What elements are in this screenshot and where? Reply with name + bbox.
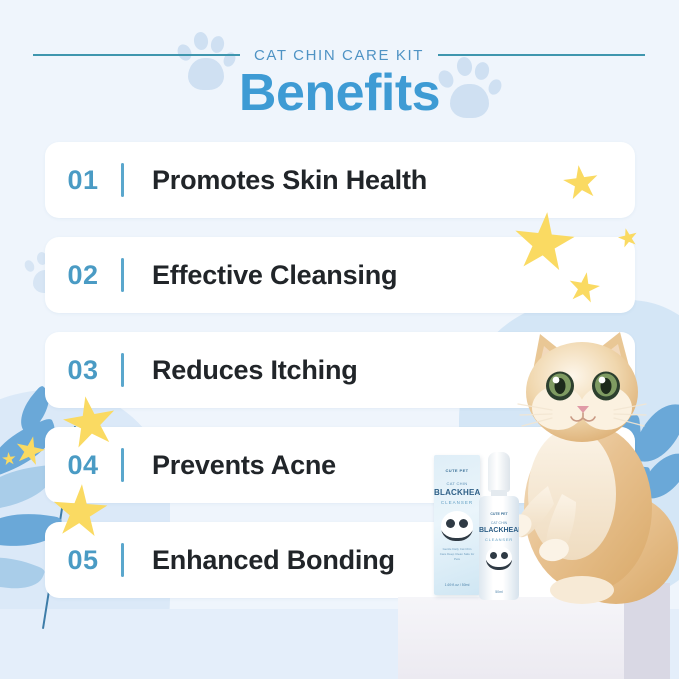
benefit-row-01: 01 Promotes Skin Health [45,142,635,218]
benefit-number: 02 [45,260,121,291]
bottle-line-2: BLACKHEAD [479,527,519,534]
box-brand: CUTE PET [434,468,480,473]
benefit-label: Enhanced Bonding [124,545,395,576]
star-icon [12,433,48,469]
benefit-number: 01 [45,165,121,196]
benefit-label: Promotes Skin Health [124,165,427,196]
bottle-body: CUTE PET CAT CHIN BLACKHEAD CLEANSER 50m… [479,496,519,600]
header-kicker: CAT CHIN CARE KIT [254,47,424,64]
bottle-pump-cap [488,452,510,492]
box-fine-print: Gentle Daily Cat Chin Care Deep Clean Sa… [439,547,475,562]
box-line-2: BLACKHEAD [434,488,480,497]
bottle-volume: 50ml [482,590,516,594]
box-volume: 1.69 fl.oz / 50ml [439,583,475,587]
bottle-brand: CUTE PET [479,512,519,516]
benefit-label: Reduces Itching [124,355,358,386]
cat-photo [496,318,679,610]
header-kicker-row: CAT CHIN CARE KIT [33,44,645,66]
leaf-shape [0,545,46,602]
product-box: CUTE PET CAT CHIN BLACKHEAD CLEANSER Gen… [434,455,480,595]
benefit-number: 04 [45,450,121,481]
bottle-cat-artwork [486,546,512,570]
box-line-1: CAT CHIN [434,481,480,486]
product-bottle: CUTE PET CAT CHIN BLACKHEAD CLEANSER 50m… [479,452,519,600]
bottle-line-1: CAT CHIN [479,521,519,525]
box-line-3: CLEANSER [434,500,480,505]
star-icon [1,451,16,466]
benefits-infographic: CAT CHIN CARE KIT Benefits 01 Promotes S… [0,0,679,679]
benefit-number: 05 [45,545,121,576]
benefit-label: Effective Cleansing [124,260,397,291]
box-cat-artwork [441,511,473,541]
page-title: Benefits [0,66,679,120]
benefit-number: 03 [45,355,121,386]
divider-rule-right [438,54,645,56]
benefit-label: Prevents Acne [124,450,336,481]
bottle-line-3: CLEANSER [479,537,519,542]
divider-rule-left [33,54,240,56]
